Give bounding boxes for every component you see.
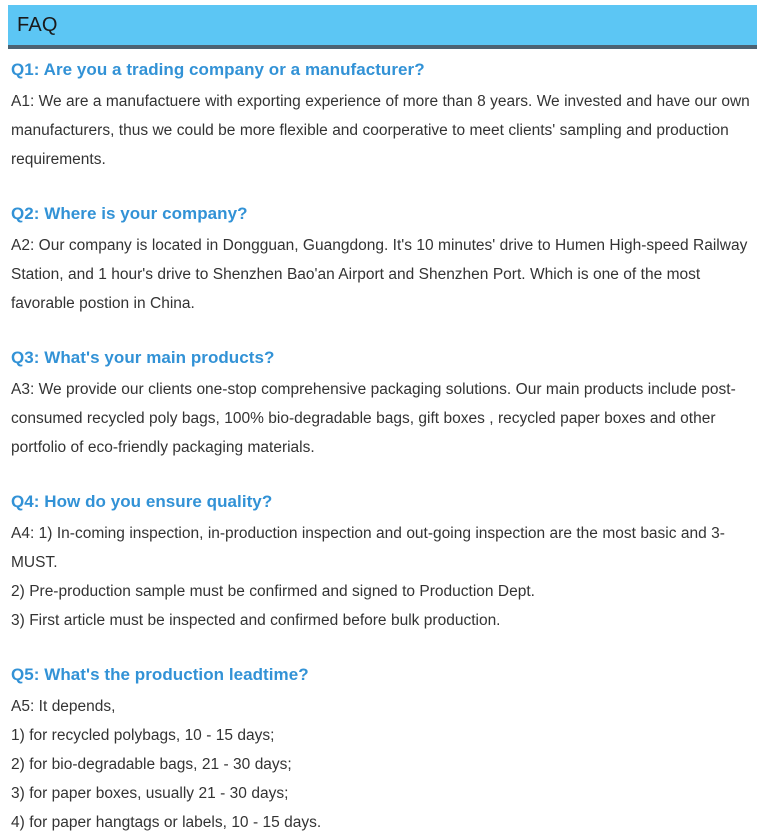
faq-answer-line: A3: We provide our clients one-stop comp… <box>11 375 753 462</box>
faq-answer-line: 3) for paper boxes, usually 21 - 30 days… <box>11 779 753 808</box>
faq-answer-line: 2) Pre-production sample must be confirm… <box>11 577 753 606</box>
faq-answer-line: A5: It depends, <box>11 692 753 721</box>
faq-question: Q2: Where is your company? <box>11 200 753 228</box>
faq-answer: A5: It depends,1) for recycled polybags,… <box>11 692 753 837</box>
faq-header-bar: FAQ <box>8 5 757 49</box>
faq-answer-line: 2) for bio-degradable bags, 21 - 30 days… <box>11 750 753 779</box>
faq-question: Q1: Are you a trading company or a manuf… <box>11 56 753 84</box>
faq-question: Q4: How do you ensure quality? <box>11 488 753 516</box>
faq-page: FAQ Q1: Are you a trading company or a m… <box>0 0 765 748</box>
faq-answer-line: 1) for recycled polybags, 10 - 15 days; <box>11 721 753 750</box>
faq-answer-line: 4) for paper hangtags or labels, 10 - 15… <box>11 808 753 837</box>
faq-answer: A4: 1) In-coming inspection, in-producti… <box>11 519 753 635</box>
faq-question: Q5: What's the production leadtime? <box>11 661 753 689</box>
faq-answer-line: A4: 1) In-coming inspection, in-producti… <box>11 519 753 577</box>
faq-item: Q3: What's your main products?A3: We pro… <box>11 344 753 462</box>
faq-list: Q1: Are you a trading company or a manuf… <box>11 56 753 837</box>
faq-answer-line: A2: Our company is located in Dongguan, … <box>11 231 753 318</box>
faq-answer-line: 3) First article must be inspected and c… <box>11 606 753 635</box>
faq-question: Q3: What's your main products? <box>11 344 753 372</box>
faq-answer: A1: We are a manufactuere with exporting… <box>11 87 753 174</box>
faq-item: Q5: What's the production leadtime?A5: I… <box>11 661 753 837</box>
page-title: FAQ <box>17 15 58 35</box>
faq-answer: A2: Our company is located in Dongguan, … <box>11 231 753 318</box>
faq-item: Q1: Are you a trading company or a manuf… <box>11 56 753 174</box>
faq-item: Q4: How do you ensure quality?A4: 1) In-… <box>11 488 753 635</box>
faq-answer-line: A1: We are a manufactuere with exporting… <box>11 87 753 174</box>
faq-item: Q2: Where is your company?A2: Our compan… <box>11 200 753 318</box>
faq-answer: A3: We provide our clients one-stop comp… <box>11 375 753 462</box>
